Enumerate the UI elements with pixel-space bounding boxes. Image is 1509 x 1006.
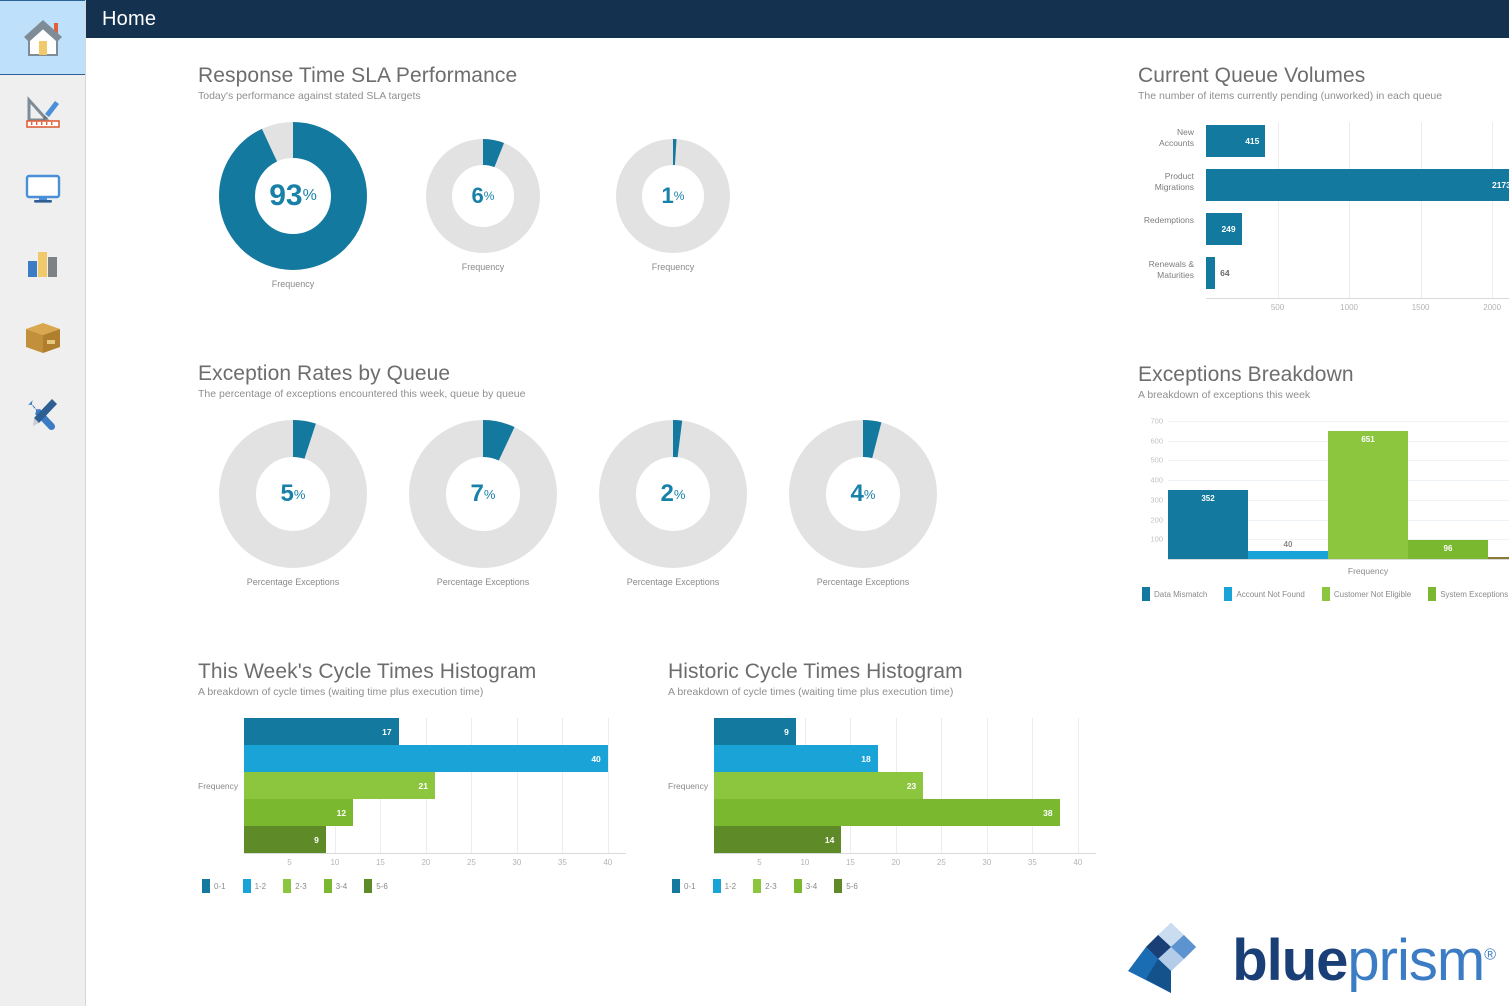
blueprism-logo: blueprism®: [1124, 921, 1495, 1000]
sidebar-item-studio[interactable]: [0, 75, 85, 150]
legend-label: 5-6: [846, 882, 858, 891]
gridline: [1421, 122, 1422, 298]
exceptions-breakdown-chart: 10020030040050060070035240651963Frequenc…: [1138, 417, 1509, 617]
legend-label: Data Mismatch: [1154, 590, 1207, 599]
page-title: Home: [102, 8, 156, 31]
widget-subtitle: Today's performance against stated SLA t…: [198, 90, 798, 102]
widget-subtitle: The number of items currently pending (u…: [1138, 90, 1509, 102]
legend-item[interactable]: 1-2: [713, 879, 737, 893]
x-tick-label: 40: [1073, 858, 1082, 867]
x-tick-label: 20: [891, 858, 900, 867]
legend-label: 1-2: [255, 882, 267, 891]
x-tick-label: 25: [937, 858, 946, 867]
legend-item[interactable]: 3-4: [324, 879, 348, 893]
bar[interactable]: 21: [244, 772, 435, 799]
bar-value-label: 96: [1444, 544, 1453, 553]
bar[interactable]: 14: [714, 826, 841, 853]
legend-label: 2-3: [295, 882, 307, 891]
x-tick-label: 40: [603, 858, 612, 867]
bar[interactable]: 64: [1206, 257, 1215, 289]
sidebar-item-system[interactable]: [0, 375, 85, 450]
gauge-label: Frequency: [462, 262, 505, 272]
widget-title: Exceptions Breakdown: [1138, 363, 1509, 387]
donut-gauge: 2%Percentage Exceptions: [578, 420, 768, 587]
donut-gauge: 5%Percentage Exceptions: [198, 420, 388, 587]
legend-item[interactable]: 2-3: [283, 879, 307, 893]
widget-week-histogram: This Week's Cycle Times Histogram A brea…: [198, 660, 638, 896]
legend-swatch: [1428, 587, 1436, 601]
chart-legend: 0-11-22-33-45-6: [672, 879, 870, 893]
y-axis-title: Frequency: [668, 781, 708, 791]
bar-value-label: 17: [382, 727, 398, 737]
legend-label: Customer Not Eligible: [1334, 590, 1411, 599]
bar[interactable]: 40: [244, 745, 608, 772]
widget-title: Response Time SLA Performance: [198, 64, 798, 88]
monitor-icon: [21, 167, 65, 209]
bar-category-label: ProductMigrations: [1138, 171, 1200, 192]
bar[interactable]: 96: [1408, 540, 1488, 559]
application-window: Home Response Time SLA Performance Today…: [0, 0, 1509, 1006]
blueprism-mark-icon: [1124, 921, 1218, 1000]
bar[interactable]: 12: [244, 799, 353, 826]
x-axis-line: [714, 853, 1096, 854]
bar-value-label: 249: [1221, 224, 1241, 234]
x-tick-label: 500: [1271, 303, 1284, 312]
bar-value-label: 23: [907, 781, 923, 791]
gauge-label: Percentage Exceptions: [247, 577, 340, 587]
bar-value-label: 12: [337, 808, 353, 818]
x-tick-label: 10: [800, 858, 809, 867]
y-tick-label: 300: [1138, 495, 1163, 504]
widget-title: Exception Rates by Queue: [198, 362, 978, 386]
gridline: [1349, 122, 1350, 298]
chart-legend: Data MismatchAccount Not FoundCustomer N…: [1142, 587, 1509, 601]
bar-value-label: 14: [825, 835, 841, 845]
bar[interactable]: 415: [1206, 125, 1265, 157]
gridline: [987, 718, 988, 853]
gauge-label: Percentage Exceptions: [627, 577, 720, 587]
sla-gauge-group: 93%Frequency6%Frequency1%Frequency: [198, 122, 798, 289]
registered-mark: ®: [1484, 946, 1495, 963]
bar-value-label: 415: [1245, 136, 1265, 146]
legend-swatch: [324, 879, 332, 893]
exception-rate-gauge-group: 5%Percentage Exceptions7%Percentage Exce…: [198, 420, 978, 587]
widget-title: Current Queue Volumes: [1138, 64, 1509, 88]
bar-category-label: NewAccounts: [1138, 127, 1200, 148]
legend-item[interactable]: 3-4: [794, 879, 818, 893]
donut-gauge: 7%Percentage Exceptions: [388, 420, 578, 587]
bar[interactable]: 9: [244, 826, 326, 853]
sidebar-item-control[interactable]: [0, 150, 85, 225]
bar[interactable]: 651: [1328, 431, 1408, 559]
x-axis-line: [1206, 298, 1509, 299]
legend-item[interactable]: 0-1: [672, 879, 696, 893]
legend-swatch: [1322, 587, 1330, 601]
legend-item[interactable]: 2-3: [753, 879, 777, 893]
bar[interactable]: 9: [714, 718, 796, 745]
gridline: [562, 718, 563, 853]
bar-chart-icon: [21, 242, 65, 284]
legend-item[interactable]: Data Mismatch: [1142, 587, 1207, 601]
gridline: [941, 718, 942, 853]
bar-value-label: 40: [591, 754, 607, 764]
legend-swatch: [1224, 587, 1232, 601]
x-tick-label: 35: [1028, 858, 1037, 867]
bar-value-label: 64: [1215, 268, 1229, 278]
legend-label: 1-2: [725, 882, 737, 891]
legend-item[interactable]: 5-6: [834, 879, 858, 893]
legend-label: System Exceptions: [1440, 590, 1508, 599]
gridline: [1078, 718, 1079, 853]
gridline: [517, 718, 518, 853]
x-tick-label: 1000: [1340, 303, 1358, 312]
legend-swatch: [283, 879, 291, 893]
queue-volumes-chart: NewAccounts415ProductMigrations2173Redem…: [1138, 116, 1509, 316]
x-tick-label: 10: [330, 858, 339, 867]
historic-histogram-chart: 918233814Frequency5101520253035400-11-22…: [668, 714, 1108, 896]
y-axis-title: Frequency: [198, 781, 238, 791]
x-tick-label: 2000: [1483, 303, 1501, 312]
widget-exception-rates: Exception Rates by Queue The percentage …: [198, 362, 978, 587]
bar[interactable]: 17: [244, 718, 399, 745]
bar[interactable]: 249: [1206, 213, 1242, 245]
legend-swatch: [794, 879, 802, 893]
x-tick-label: 5: [757, 858, 761, 867]
dashboard-canvas: Response Time SLA Performance Today's pe…: [86, 38, 1509, 1006]
gridline: [471, 718, 472, 853]
bar-category-label: Renewals &Maturities: [1138, 259, 1200, 280]
widget-title: Historic Cycle Times Histogram: [668, 660, 1108, 684]
bar[interactable]: 352: [1168, 490, 1248, 559]
y-tick-label: 200: [1138, 515, 1163, 524]
gridline: [608, 718, 609, 853]
main-area: Home Response Time SLA Performance Today…: [86, 0, 1509, 1006]
logo-text-blue: blue: [1232, 928, 1347, 993]
legend-item[interactable]: System Exceptions: [1428, 587, 1508, 601]
x-tick-label: 30: [512, 858, 521, 867]
legend-label: 2-3: [765, 882, 777, 891]
studio-ruler-pencil-icon: [21, 92, 65, 134]
x-tick-label: 15: [376, 858, 385, 867]
sidebar-item-home[interactable]: [0, 0, 85, 75]
gridline: [1032, 718, 1033, 853]
donut-gauge: 1%Frequency: [578, 139, 768, 272]
x-axis-title: Frequency: [1168, 566, 1509, 576]
chart-legend: 0-11-22-33-45-6: [202, 879, 400, 893]
week-histogram-chart: 174021129Frequency5101520253035400-11-22…: [198, 714, 638, 896]
legend-swatch: [713, 879, 721, 893]
legend-label: 5-6: [376, 882, 388, 891]
legend-item[interactable]: 5-6: [364, 879, 388, 893]
home-icon: [21, 17, 65, 59]
legend-swatch: [1142, 587, 1150, 601]
widget-historic-histogram: Historic Cycle Times Histogram A breakdo…: [668, 660, 1108, 896]
widget-subtitle: A breakdown of exceptions this week: [1138, 389, 1509, 401]
donut-gauge: 4%Percentage Exceptions: [768, 420, 958, 587]
logo-text-prism: prism: [1347, 928, 1484, 993]
legend-item[interactable]: Account Not Found: [1224, 587, 1304, 601]
gauge-label: Frequency: [652, 262, 695, 272]
bar-value-label: 18: [861, 754, 877, 764]
gauge-label: Frequency: [272, 279, 315, 289]
y-tick-label: 500: [1138, 456, 1163, 465]
sidebar-item-releases[interactable]: [0, 300, 85, 375]
donut-gauge: 6%Frequency: [388, 139, 578, 272]
x-axis-line: [1168, 559, 1509, 560]
gridline: [1492, 122, 1493, 298]
bar-value-label: 21: [419, 781, 435, 791]
package-box-icon: [21, 317, 65, 359]
legend-swatch: [834, 879, 842, 893]
y-tick-label: 100: [1138, 535, 1163, 544]
x-tick-label: 35: [558, 858, 567, 867]
gridline: [1278, 122, 1279, 298]
x-tick-label: 20: [421, 858, 430, 867]
widget-title: This Week's Cycle Times Histogram: [198, 660, 638, 684]
bar[interactable]: 18: [714, 745, 878, 772]
bar[interactable]: 23: [714, 772, 923, 799]
sidebar: [0, 0, 86, 1006]
gauge-label: Percentage Exceptions: [817, 577, 910, 587]
widget-subtitle: A breakdown of cycle times (waiting time…: [198, 686, 638, 698]
bar[interactable]: 38: [714, 799, 1060, 826]
legend-label: 0-1: [214, 882, 226, 891]
sidebar-item-analytics[interactable]: [0, 225, 85, 300]
x-tick-label: 15: [846, 858, 855, 867]
bar-value-label: 40: [1284, 540, 1293, 549]
bar-category-label: Redemptions: [1138, 215, 1200, 226]
gridline: [1168, 421, 1509, 422]
widget-subtitle: The percentage of exceptions encountered…: [198, 388, 978, 400]
legend-label: 3-4: [336, 882, 348, 891]
bar-value-label: 2173: [1492, 180, 1509, 190]
bar[interactable]: 2173: [1206, 169, 1509, 201]
y-tick-label: 600: [1138, 436, 1163, 445]
legend-item[interactable]: 1-2: [243, 879, 267, 893]
x-tick-label: 5: [287, 858, 291, 867]
legend-label: 3-4: [806, 882, 818, 891]
y-tick-label: 700: [1138, 417, 1163, 426]
bar[interactable]: 40: [1248, 551, 1328, 559]
legend-label: Account Not Found: [1236, 590, 1304, 599]
legend-swatch: [364, 879, 372, 893]
widget-queue-volumes: Current Queue Volumes The number of item…: [1138, 64, 1509, 316]
legend-swatch: [243, 879, 251, 893]
legend-swatch: [672, 879, 680, 893]
donut-gauge: 93%Frequency: [198, 122, 388, 289]
bar-value-label: 9: [784, 727, 796, 737]
widget-exceptions-breakdown: Exceptions Breakdown A breakdown of exce…: [1138, 363, 1509, 617]
legend-item[interactable]: 0-1: [202, 879, 226, 893]
y-tick-label: 400: [1138, 476, 1163, 485]
bar-value-label: 352: [1201, 494, 1214, 503]
blueprism-wordmark: blueprism®: [1232, 932, 1495, 990]
widget-subtitle: A breakdown of cycle times (waiting time…: [668, 686, 1108, 698]
wrench-tools-icon: [21, 392, 65, 434]
x-tick-label: 25: [467, 858, 476, 867]
x-axis-line: [244, 853, 626, 854]
legend-swatch: [202, 879, 210, 893]
bar-value-label: 9: [314, 835, 326, 845]
legend-item[interactable]: Customer Not Eligible: [1322, 587, 1411, 601]
title-bar: Home: [86, 0, 1509, 38]
widget-response-time-sla: Response Time SLA Performance Today's pe…: [198, 64, 798, 289]
x-tick-label: 30: [982, 858, 991, 867]
gauge-label: Percentage Exceptions: [437, 577, 530, 587]
legend-swatch: [753, 879, 761, 893]
legend-label: 0-1: [684, 882, 696, 891]
bar-value-label: 38: [1043, 808, 1059, 818]
x-tick-label: 1500: [1412, 303, 1430, 312]
bar-value-label: 651: [1361, 435, 1374, 444]
